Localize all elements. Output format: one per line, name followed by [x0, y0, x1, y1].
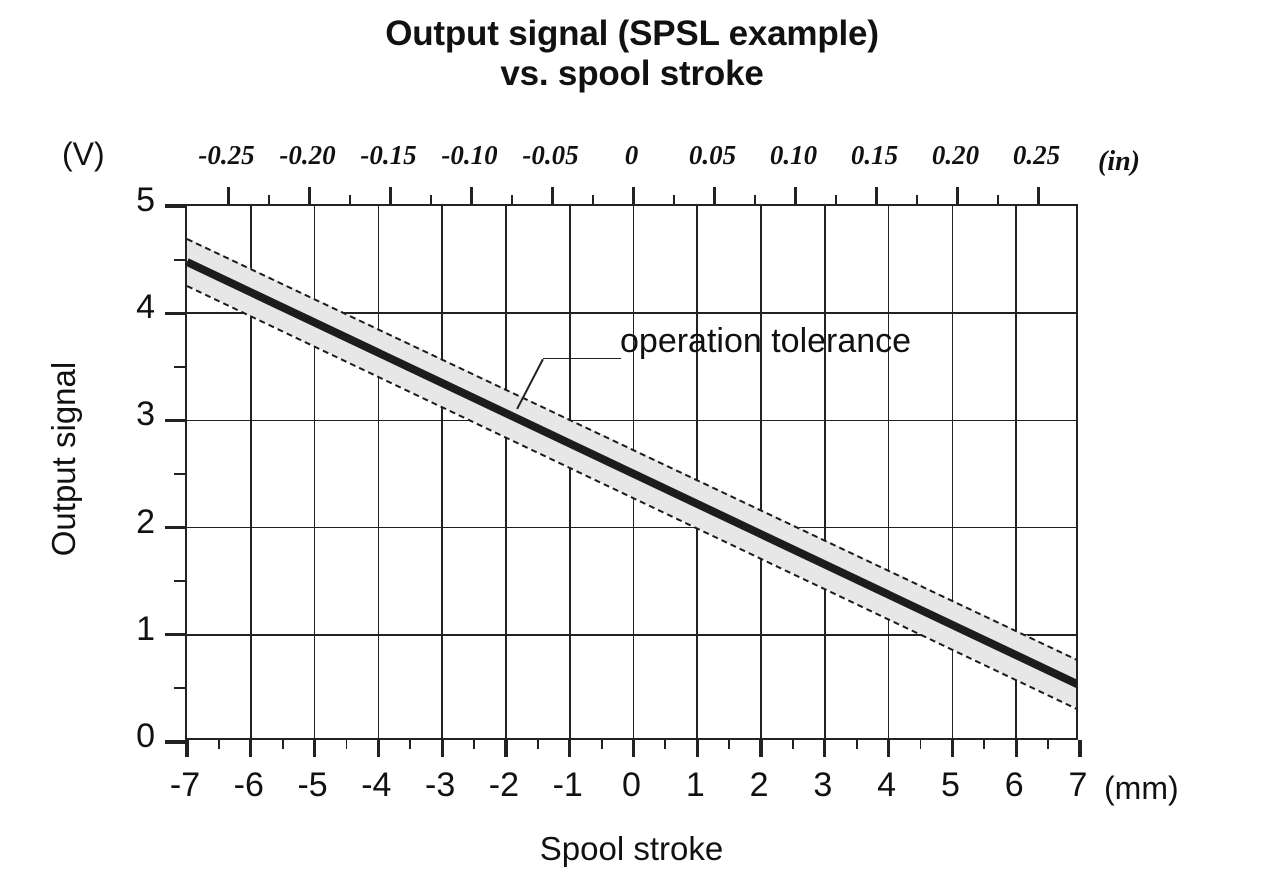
x-top-tick-minor — [349, 195, 351, 204]
y-tick-label: 4 — [95, 288, 155, 327]
x-tick-major — [313, 740, 316, 757]
operation-tolerance-label: operation tolerance — [620, 322, 911, 361]
x-tick-minor — [282, 740, 284, 749]
y-tick-major — [165, 633, 185, 636]
x-tick-minor — [601, 740, 603, 749]
x-tick-major — [568, 740, 571, 757]
x-top-tick-minor — [916, 195, 918, 204]
x-tick-label: 5 — [915, 766, 985, 805]
x-tick-label: -4 — [341, 766, 411, 805]
x-tick-major — [696, 740, 699, 757]
x-tick-label: 1 — [660, 766, 730, 805]
y-tick-major — [165, 204, 185, 207]
x-top-tick-major — [713, 187, 716, 204]
plot-area — [185, 204, 1078, 740]
annotation-leader-horizontal — [543, 358, 621, 360]
x-axis-title: Spool stroke — [185, 830, 1078, 868]
x-tick-minor — [920, 740, 922, 749]
x-tick-minor — [664, 740, 666, 749]
x-top-tick-minor — [754, 195, 756, 204]
x-tick-major — [823, 740, 826, 757]
y-tick-minor — [174, 259, 185, 261]
x-top-tick-minor — [268, 195, 270, 204]
x-top-tick-major — [1037, 187, 1040, 204]
x-tick-minor — [1047, 740, 1049, 749]
chart-title-line1: Output signal (SPSL example) — [385, 14, 879, 53]
x-tick-minor — [346, 740, 348, 749]
x-top-tick-minor — [430, 195, 432, 204]
x-tick-label: -2 — [469, 766, 539, 805]
x-tick-major — [249, 740, 252, 757]
x-top-axis-unit: (in) — [1098, 146, 1140, 178]
x-tick-label: 3 — [788, 766, 858, 805]
x-tick-major — [1078, 740, 1081, 757]
y-tick-label: 2 — [95, 503, 155, 542]
x-tick-major — [504, 740, 507, 757]
x-top-tick-major — [470, 187, 473, 204]
x-tick-label: 0 — [597, 766, 667, 805]
x-top-tick-label: 0.25 — [982, 140, 1092, 171]
y-tick-major — [165, 312, 185, 315]
x-tick-minor — [792, 740, 794, 749]
plot-clip — [187, 206, 1076, 738]
x-tick-major — [441, 740, 444, 757]
x-tick-major — [887, 740, 890, 757]
x-top-tick-minor — [835, 195, 837, 204]
x-tick-minor — [856, 740, 858, 749]
y-tick-minor — [174, 580, 185, 582]
x-tick-minor — [473, 740, 475, 749]
x-bottom-axis-unit: (mm) — [1104, 770, 1179, 807]
chart-title-line2: vs. spool stroke — [0, 54, 1264, 94]
x-tick-label: 2 — [724, 766, 794, 805]
x-top-tick-minor — [511, 195, 513, 204]
x-top-tick-minor — [673, 195, 675, 204]
x-tick-label: 6 — [979, 766, 1049, 805]
x-tick-minor — [409, 740, 411, 749]
y-tick-minor — [174, 366, 185, 368]
x-top-tick-major — [308, 187, 311, 204]
y-tick-label: 1 — [95, 610, 155, 649]
chart-title: Output signal (SPSL example) vs. spool s… — [0, 14, 1264, 94]
chart-root: Output signal (SPSL example) vs. spool s… — [0, 0, 1264, 889]
x-top-tick-major — [794, 187, 797, 204]
y-axis-unit: (V) — [62, 136, 105, 173]
x-top-tick-major — [956, 187, 959, 204]
x-tick-label: 7 — [1043, 766, 1113, 805]
x-tick-minor — [218, 740, 220, 749]
y-tick-major — [165, 419, 185, 422]
y-tick-label: 5 — [95, 181, 155, 220]
x-tick-minor — [537, 740, 539, 749]
x-tick-major — [1015, 740, 1018, 757]
x-tick-major — [951, 740, 954, 757]
x-tick-label: 4 — [852, 766, 922, 805]
x-tick-label: -5 — [278, 766, 348, 805]
y-tick-major — [165, 740, 185, 743]
x-top-tick-major — [227, 187, 230, 204]
x-top-tick-minor — [997, 195, 999, 204]
x-top-tick-major — [551, 187, 554, 204]
x-top-tick-major — [389, 187, 392, 204]
x-tick-minor — [983, 740, 985, 749]
x-tick-label: -3 — [405, 766, 475, 805]
x-tick-minor — [728, 740, 730, 749]
y-tick-minor — [174, 473, 185, 475]
y-tick-label: 0 — [95, 717, 155, 756]
x-tick-major — [759, 740, 762, 757]
x-top-tick-major — [632, 187, 635, 204]
x-tick-label: -7 — [150, 766, 220, 805]
y-axis-title: Output signal — [45, 299, 83, 619]
x-top-tick-major — [875, 187, 878, 204]
x-tick-major — [377, 740, 380, 757]
x-tick-label: -6 — [214, 766, 284, 805]
y-tick-minor — [174, 687, 185, 689]
x-tick-major — [185, 740, 188, 757]
y-tick-label: 3 — [95, 395, 155, 434]
x-tick-major — [632, 740, 635, 757]
y-tick-major — [165, 526, 185, 529]
x-top-tick-minor — [592, 195, 594, 204]
x-tick-label: -1 — [533, 766, 603, 805]
